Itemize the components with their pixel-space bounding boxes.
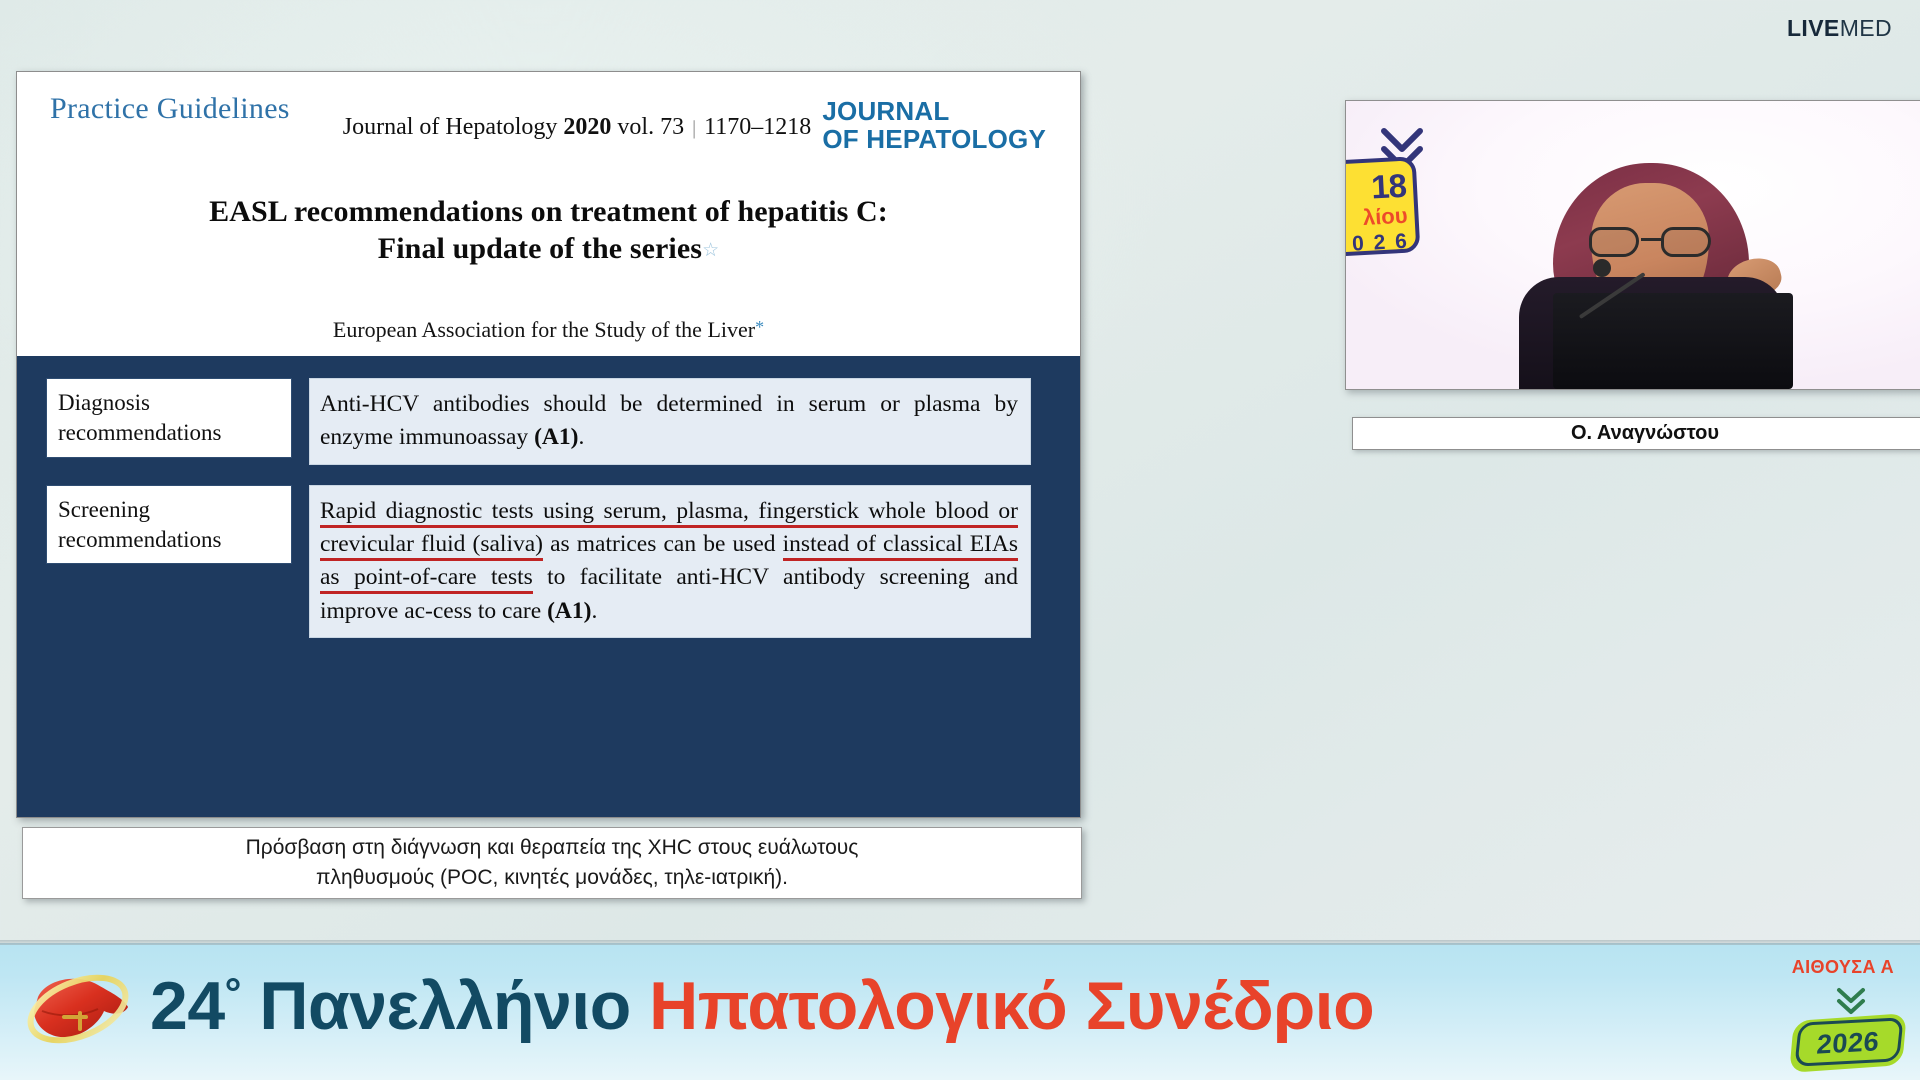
- badge-day: 18: [1345, 169, 1407, 207]
- glasses-lens-right: [1661, 227, 1711, 257]
- conference-banner: 24° Πανελλήνιο Ηπατολογικό Συνέδριο ΑΙΘΟ…: [0, 943, 1920, 1080]
- livemed-logo-light: MED: [1840, 15, 1892, 41]
- banner-title-red: Ηπατολογικό Συνέδριο: [649, 968, 1374, 1044]
- year-badge-text: 2026: [1790, 1014, 1906, 1072]
- event-date-badge: 18 λίου 0 2 6: [1345, 156, 1420, 258]
- journal-logo-line1: JOURNAL: [822, 97, 1046, 125]
- recommendation-key: Screening recommendations: [46, 485, 292, 565]
- speaker-video-panel[interactable]: 18 λίου 0 2 6: [1345, 100, 1920, 390]
- journal-citation-separator: |: [690, 117, 698, 139]
- recommendations-panel: Diagnosis recommendations Anti-HCV antib…: [17, 356, 1080, 817]
- recommendation-text: Anti-HCV antibodies should be determined…: [309, 378, 1031, 465]
- journal-of-hepatology-logo: JOURNAL OF HEPATOLOGY: [822, 97, 1046, 153]
- journal-citation-year: 2020: [563, 114, 611, 140]
- journal-citation-vol: vol. 73: [611, 114, 690, 140]
- badge-year: 0 2 6: [1345, 231, 1409, 257]
- presentation-slide[interactable]: Practice Guidelines Journal of Hepatolog…: [16, 71, 1081, 818]
- liver-logo-icon: [24, 959, 132, 1063]
- recommendation-text: Rapid diagnostic tests using serum, plas…: [309, 485, 1031, 638]
- journal-citation-prefix: Journal of Hepatology: [343, 114, 564, 140]
- caption-line-2: πληθυσμούς (POC, κινητές μονάδες, τηλε-ι…: [316, 866, 788, 889]
- hall-label: ΑΙΘΟΥΣΑ Α: [1792, 957, 1894, 978]
- recommendation-key: Diagnosis recommendations: [46, 378, 292, 458]
- table-row: Screening recommendations Rapid diagnost…: [46, 485, 1058, 638]
- badge-month: λίου: [1345, 205, 1408, 232]
- asterisk-footnote-icon: *: [755, 317, 764, 337]
- slide-caption: Πρόσβαση στη διάγνωση και θεραπεία της Χ…: [22, 827, 1082, 899]
- title-line-1: EASL recommendations on treatment of hep…: [17, 194, 1080, 231]
- double-chevron-down-icon: [1834, 983, 1868, 1017]
- livemed-logo: LIVEMED: [1787, 17, 1892, 40]
- banner-title: 24° Πανελλήνιο Ηπατολογικό Συνέδριο: [150, 961, 1374, 1053]
- rec-seg-grade: (A1): [534, 424, 578, 450]
- rec-seg-grade: (A1): [547, 598, 591, 624]
- association-name: European Association for the Study of th…: [333, 317, 755, 342]
- podium: [1553, 293, 1793, 389]
- title-line-2-wrap: Final update of the series☆: [17, 231, 1080, 268]
- journal-citation: Journal of Hepatology 2020 vol. 73 | 117…: [337, 114, 817, 141]
- speaker-figure: [1501, 131, 1801, 389]
- caption-line-1: Πρόσβαση στη διάγνωση και θεραπεία της Χ…: [246, 836, 859, 859]
- rec-seg: as matrices can be used: [543, 531, 783, 557]
- banner-title-teal: Πανελλήνιο: [241, 968, 649, 1044]
- slide-header: Practice Guidelines Journal of Hepatolog…: [17, 72, 1080, 356]
- glasses-bridge: [1641, 238, 1661, 241]
- livemed-logo-bold: LIVE: [1787, 15, 1840, 41]
- journal-logo-line2: OF HEPATOLOGY: [822, 125, 1046, 153]
- star-footnote-icon: ☆: [702, 240, 719, 261]
- banner-degree-sign: °: [225, 969, 241, 1016]
- speaker-name-label: Ο. Αναγνώστου: [1352, 417, 1920, 450]
- year-badge: 2026: [1792, 1017, 1904, 1069]
- microphone-head-icon: [1593, 259, 1611, 277]
- rec-seg: .: [578, 424, 584, 450]
- title-line-2: Final update of the series: [378, 232, 702, 265]
- rec-seg: Anti-HCV antibodies should be determined…: [320, 391, 1018, 450]
- rec-seg: .: [591, 598, 597, 624]
- journal-citation-pages: 1170–1218: [698, 114, 811, 140]
- association-line: European Association for the Study of th…: [17, 317, 1080, 343]
- glasses-lens-left: [1589, 227, 1639, 257]
- speaker-glasses: [1585, 227, 1715, 257]
- practice-guidelines-label: Practice Guidelines: [50, 92, 290, 126]
- page-title: EASL recommendations on treatment of hep…: [17, 194, 1080, 267]
- table-row: Diagnosis recommendations Anti-HCV antib…: [46, 378, 1058, 465]
- banner-edition-number: 24: [150, 968, 225, 1044]
